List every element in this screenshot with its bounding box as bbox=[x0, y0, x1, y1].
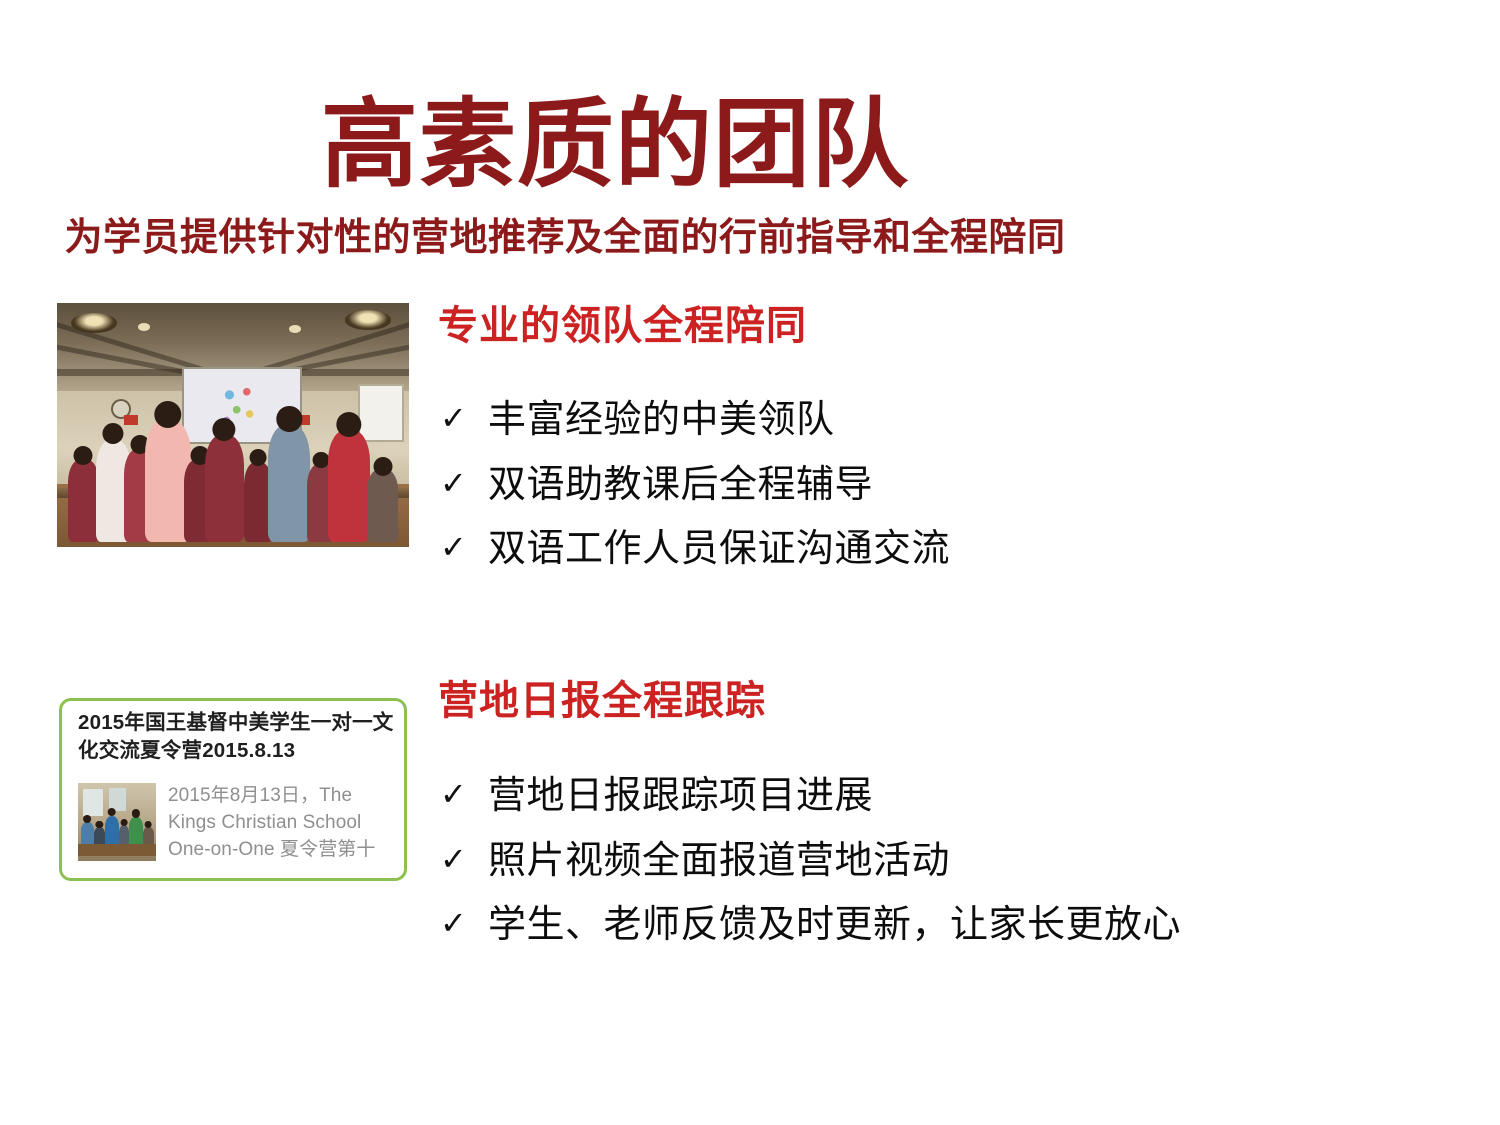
section-heading-professional-leader: 专业的领队全程陪同 bbox=[438, 293, 807, 351]
page-subtitle: 为学员提供针对性的营地推荐及全面的行前指导和全程陪同 bbox=[0, 216, 1130, 262]
group-circle-photo bbox=[57, 303, 409, 547]
list-item: ✓ 双语助教课后全程辅导 bbox=[440, 461, 950, 510]
list-item-label: 双语助教课后全程辅导 bbox=[488, 461, 873, 510]
check-icon: ✓ bbox=[440, 531, 488, 563]
check-icon: ✓ bbox=[440, 467, 488, 499]
camp-daily-report-description: 2015年8月13日，The Kings Christian School On… bbox=[168, 783, 398, 864]
list-item-label: 双语工作人员保证沟通交流 bbox=[488, 525, 950, 574]
list-item-label: 照片视频全面报道营地活动 bbox=[488, 837, 950, 886]
wall-clock-icon bbox=[113, 401, 129, 417]
section-heading-daily-report: 营地日报全程跟踪 bbox=[438, 668, 766, 726]
page-title: 高素质的团队 bbox=[0, 94, 1230, 196]
bullet-list-daily-report: ✓ 营地日报跟踪项目进展 ✓ 照片视频全面报道营地活动 ✓ 学生、老师反馈及时更… bbox=[440, 772, 1181, 966]
slide-root: 高素质的团队 为学员提供针对性的营地推荐及全面的行前指导和全程陪同 bbox=[0, 0, 1500, 1125]
person bbox=[328, 430, 370, 542]
list-item: ✓ 营地日报跟踪项目进展 bbox=[440, 772, 1181, 821]
check-icon: ✓ bbox=[440, 843, 488, 875]
photo-illustration bbox=[57, 303, 409, 547]
chandelier-icon bbox=[71, 313, 117, 333]
check-icon: ✓ bbox=[440, 907, 488, 939]
camp-daily-report-title: 2015年国王基督中美学生一对一文化交流夏令营2015.8.13 bbox=[78, 709, 396, 764]
check-icon: ✓ bbox=[440, 402, 488, 434]
camp-daily-report-thumbnail bbox=[78, 783, 156, 861]
person bbox=[268, 425, 310, 542]
check-icon: ✓ bbox=[440, 778, 488, 810]
bullet-list-professional-leader: ✓ 丰富经验的中美领队 ✓ 双语助教课后全程辅导 ✓ 双语工作人员保证沟通交流 bbox=[440, 396, 950, 590]
person bbox=[205, 435, 244, 542]
list-item: ✓ 学生、老师反馈及时更新，让家长更放心 bbox=[440, 901, 1181, 950]
window bbox=[360, 386, 402, 440]
person bbox=[68, 459, 100, 542]
list-item: ✓ 双语工作人员保证沟通交流 bbox=[440, 525, 950, 574]
ceiling-light-icon bbox=[138, 323, 150, 331]
list-item-label: 学生、老师反馈及时更新，让家长更放心 bbox=[488, 901, 1181, 950]
exit-sign-icon bbox=[124, 415, 138, 425]
list-item-label: 营地日报跟踪项目进展 bbox=[488, 772, 873, 821]
camp-daily-report-card: 2015年国王基督中美学生一对一文化交流夏令营2015.8.13 2015年8月… bbox=[59, 698, 407, 881]
camp-daily-report-body: 2015年8月13日，The Kings Christian School On… bbox=[78, 783, 398, 864]
list-item: ✓ 丰富经验的中美领队 bbox=[440, 396, 950, 445]
list-item-label: 丰富经验的中美领队 bbox=[488, 396, 835, 445]
list-item: ✓ 照片视频全面报道营地活动 bbox=[440, 837, 1181, 886]
person bbox=[367, 469, 399, 542]
